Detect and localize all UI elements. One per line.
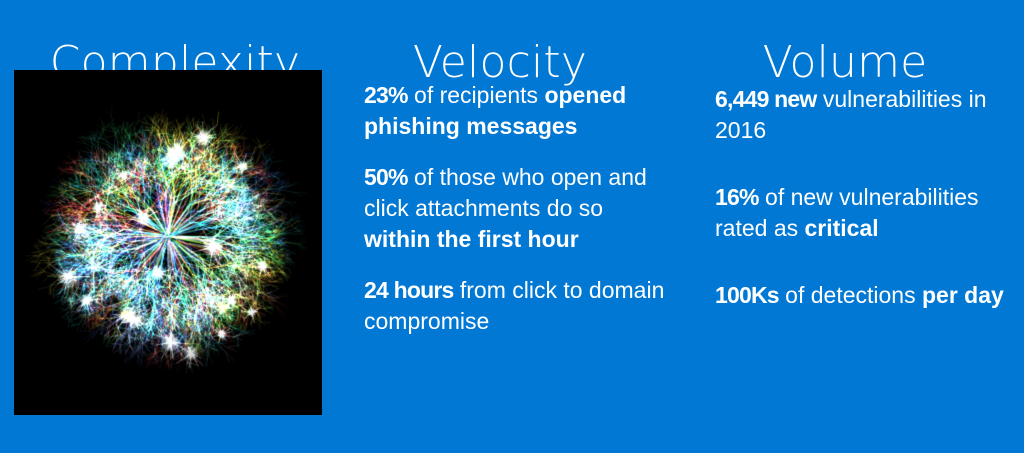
stat-number: 6,449 new <box>715 84 816 115</box>
stat-emphasis-text: critical <box>805 215 879 241</box>
network-topology-figure <box>14 70 322 415</box>
velocity-stat-2: 24 hours from click to domain compromise <box>364 275 668 337</box>
stat-number: 50% <box>364 162 408 193</box>
threat-landscape-slide: Complexity Velocity Volume 23% of recipi… <box>0 0 1024 453</box>
volume-stat-0: 6,449 new vulnerabilities in 2016 <box>715 84 1015 146</box>
stat-number: 100Ks <box>715 280 779 311</box>
velocity-stat-1: 50% of those who open and click attachme… <box>364 162 668 255</box>
volume-stat-1: 16% of new vulnerabilities rated as crit… <box>715 182 1015 244</box>
heading-volume: Volume <box>680 37 1010 89</box>
stat-number: 16% <box>715 182 759 213</box>
stat-number: 24 hours <box>364 275 453 306</box>
velocity-stat-0: 23% of recipients opened phishing messag… <box>364 80 668 142</box>
stat-emphasis-text: within the first hour <box>364 226 579 252</box>
volume-stats-column: 6,449 new vulnerabilities in 2016 16% of… <box>715 84 1015 347</box>
stat-number: 23% <box>364 80 408 111</box>
network-topology-map-icon <box>14 70 322 415</box>
volume-stat-2: 100Ks of detections per day <box>715 280 1015 311</box>
stat-lead-text: of detections <box>779 282 922 308</box>
stat-lead-text: of recipients <box>408 82 545 108</box>
velocity-stats-column: 23% of recipients opened phishing messag… <box>364 80 668 337</box>
stat-emphasis-text: per day <box>922 282 1004 308</box>
